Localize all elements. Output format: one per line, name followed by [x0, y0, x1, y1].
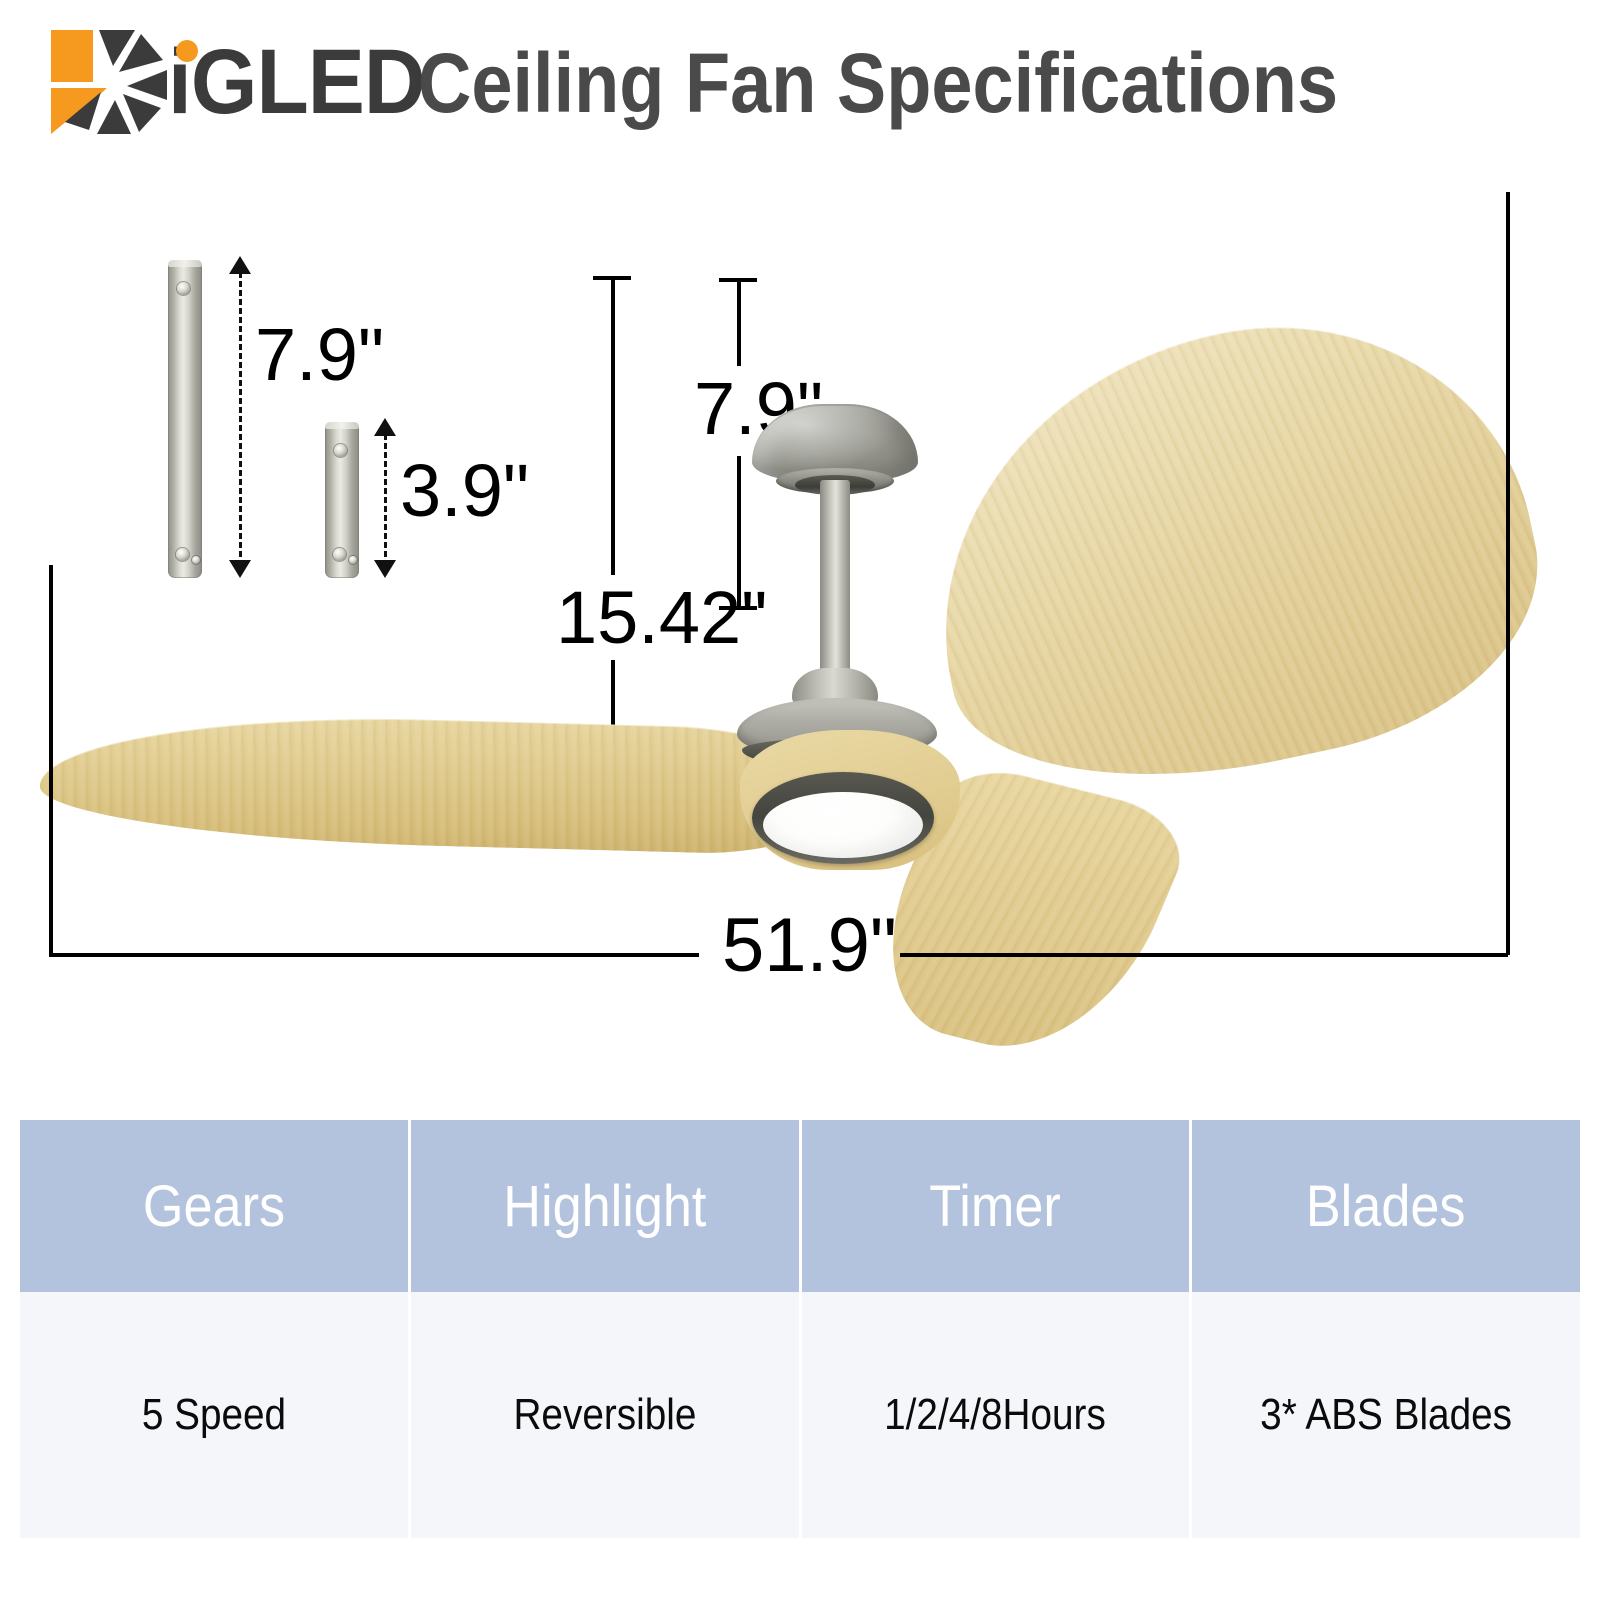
table-row: 5 Speed Reversible 1/2/4/8Hours 3* ABS B… — [20, 1292, 1580, 1538]
brand-wordmark-text: iGLED — [168, 31, 425, 133]
table-header-highlight: Highlight — [411, 1120, 802, 1292]
fan-dimension-diagram: 7.9" 3.9" 15.42" 7.9" 51.9" — [0, 160, 1600, 1080]
fan-blade-upper-right — [892, 278, 1568, 823]
downrod-top-cap — [325, 422, 359, 429]
table-header-row: Gears Highlight Timer Blades — [20, 1120, 1580, 1292]
short-downrod-dim-line — [384, 434, 387, 566]
specification-table: Gears Highlight Timer Blades 5 Speed Rev… — [20, 1120, 1580, 1538]
led-light-lens — [763, 792, 923, 858]
downrod-pin-hole — [349, 556, 357, 564]
short-downrod-dim-label: 3.9" — [400, 448, 529, 533]
table-cell-blades: 3* ABS Blades — [1192, 1292, 1580, 1538]
table-header-timer: Timer — [802, 1120, 1193, 1292]
blade-span-dim-line-left — [49, 953, 699, 957]
installed-downrod — [820, 480, 850, 680]
long-downrod-dim-label: 7.9" — [255, 312, 384, 397]
blade-span-ext-left — [49, 565, 53, 955]
table-cell-blades-value: 3* ABS Blades — [1260, 1390, 1512, 1440]
table-header-timer-label: Timer — [930, 1173, 1061, 1240]
long-downrod-arrow-top-icon — [229, 256, 251, 274]
page-header: iGLED Ceiling Fan Specifications — [0, 0, 1600, 160]
table-header-blades-label: Blades — [1306, 1173, 1466, 1240]
table-cell-gears-value: 5 Speed — [142, 1390, 286, 1440]
overall-height-dim-line — [611, 276, 615, 746]
downrod-pin-hole — [192, 556, 200, 564]
table-header-blades: Blades — [1192, 1120, 1580, 1292]
downrod-drop-tick-top — [719, 278, 757, 282]
logo-i-dot-icon — [176, 40, 198, 62]
short-downrod-arrow-bottom-icon — [374, 560, 396, 578]
downrod-screw-hole-bottom — [333, 548, 346, 561]
downrod-screw-hole-top — [177, 282, 190, 295]
fan-blade-left — [38, 710, 841, 857]
blade-span-dim-line-right — [900, 953, 1508, 957]
table-header-gears-label: Gears — [143, 1173, 285, 1240]
page-title: Ceiling Fan Specifications — [418, 30, 1338, 136]
short-downrod-arrow-top-icon — [374, 418, 396, 436]
short-downrod — [325, 422, 359, 578]
table-header-highlight-label: Highlight — [503, 1173, 706, 1240]
table-cell-highlight-value: Reversible — [513, 1390, 696, 1440]
table-cell-highlight: Reversible — [411, 1292, 802, 1538]
table-cell-timer: 1/2/4/8Hours — [802, 1292, 1193, 1538]
downrod-drop-dim-line-lower — [737, 456, 741, 610]
downrod-screw-hole-bottom — [176, 548, 189, 561]
long-downrod-dim-line — [239, 272, 242, 566]
long-downrod — [168, 260, 202, 578]
blade-span-dim-label: 51.9" — [722, 902, 897, 989]
overall-height-tick-top — [593, 276, 631, 280]
brand-wordmark: iGLED — [168, 32, 425, 132]
downrod-top-cap — [168, 260, 202, 267]
downrod-screw-hole-top — [334, 444, 347, 457]
long-downrod-arrow-bottom-icon — [229, 560, 251, 578]
table-cell-gears: 5 Speed — [20, 1292, 411, 1538]
table-cell-timer-value: 1/2/4/8Hours — [885, 1390, 1107, 1440]
blade-span-ext-right — [1506, 192, 1510, 955]
table-header-gears: Gears — [20, 1120, 411, 1292]
aperture-d-logo-icon — [45, 26, 173, 138]
downrod-drop-tick-bottom — [719, 606, 757, 610]
